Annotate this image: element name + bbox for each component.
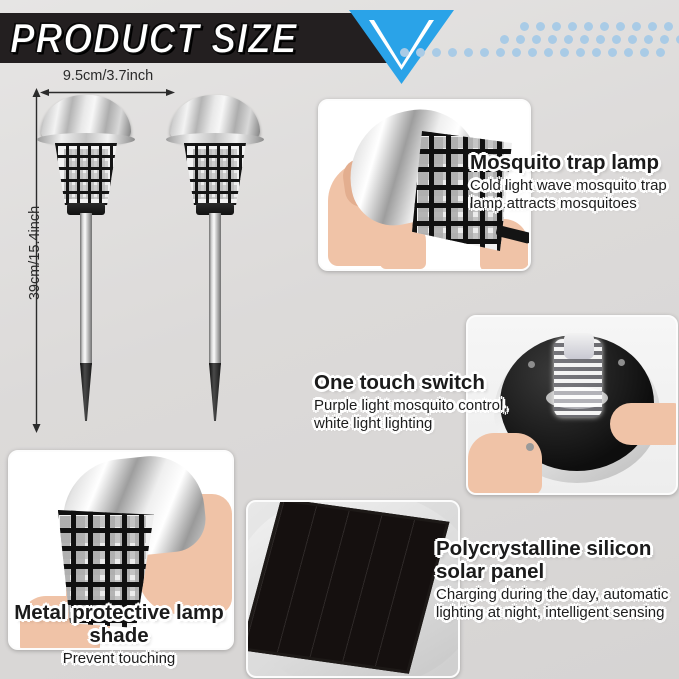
decorative-dot [544, 48, 553, 57]
decorative-dot [616, 22, 625, 31]
decorative-dot [560, 48, 569, 57]
decorative-dot [516, 35, 525, 44]
decorative-dot [592, 48, 601, 57]
page-title: PRODUCT SIZE [10, 14, 360, 63]
feature-subtitle: Purple light mosquito control, white lig… [314, 397, 526, 434]
feature-text-polycrystalline-silicon-solar-panel: Polycrystalline silicon solar panel Char… [436, 538, 679, 623]
decorative-dot [600, 22, 609, 31]
decorative-dot [432, 48, 441, 57]
lamp-pole [80, 213, 92, 365]
decorative-dot [448, 48, 457, 57]
feature-text-mosquito-trap-lamp: Mosquito trap lamp Cold light wave mosqu… [470, 152, 679, 214]
decorative-dot [656, 48, 665, 57]
feature-subtitle: Prevent touching [8, 650, 230, 668]
screw [526, 443, 534, 451]
lamp-cap [41, 95, 131, 141]
decorative-dot [564, 35, 573, 44]
decorative-dot [584, 22, 593, 31]
feature-photo-polycrystalline-silicon-solar-panel [246, 500, 460, 678]
infographic-canvas: PRODUCT SIZE 9.5cm/3.7inch 39cm/15.4inch [0, 0, 679, 679]
decorative-dot [512, 48, 521, 57]
lamp-cage [55, 143, 117, 205]
width-measurement-label: 9.5cm/3.7inch [33, 68, 183, 84]
decorative-dot [628, 35, 637, 44]
lamp-cage [184, 143, 246, 205]
decorative-dot [596, 35, 605, 44]
decorative-dot [576, 48, 585, 57]
decorative-dot [580, 35, 589, 44]
decorative-dot [664, 22, 673, 31]
decorative-dot [400, 48, 409, 57]
decorative-dot [612, 35, 621, 44]
screw [528, 361, 535, 368]
lamp-cap [170, 95, 260, 141]
decorative-dot [648, 22, 657, 31]
feature-text-metal-protective-lamp-shade: Metal protective lamp shade Prevent touc… [8, 602, 230, 668]
lamp-pole [209, 213, 221, 365]
lamp-cage-bars [55, 143, 117, 205]
led-top [564, 333, 594, 359]
lamp-ground-stake [80, 363, 92, 421]
decorative-dot [552, 22, 561, 31]
solar-lamp-illustration-left [28, 95, 144, 395]
feature-title: Polycrystalline silicon solar panel [436, 538, 679, 584]
decorative-dot [528, 48, 537, 57]
decorative-dot [520, 22, 529, 31]
decorative-dot [624, 48, 633, 57]
pressing-finger [610, 403, 678, 445]
decorative-dot [500, 35, 509, 44]
decorative-dot [416, 48, 425, 57]
decorative-dot [464, 48, 473, 57]
photo-solar-panel-closeup [248, 502, 458, 676]
decorative-dot [640, 48, 649, 57]
decorative-dot [568, 22, 577, 31]
feature-subtitle: Cold light wave mosquito trap lamp attra… [470, 177, 679, 214]
decorative-dot [532, 35, 541, 44]
lamp-ground-stake [209, 363, 221, 421]
feature-subtitle: Charging during the day, automatic light… [436, 586, 679, 623]
lamp-cage-bars [184, 143, 246, 205]
solar-lamp-illustration-right [157, 95, 273, 395]
decorative-dot-pattern [400, 22, 679, 62]
decorative-dot [632, 22, 641, 31]
decorative-dot [480, 48, 489, 57]
decorative-dot [660, 35, 669, 44]
feature-title: One touch switch [314, 372, 526, 395]
feature-title: Mosquito trap lamp [470, 152, 679, 175]
feature-title: Metal protective lamp shade [8, 602, 230, 648]
decorative-dot [536, 22, 545, 31]
decorative-dot [608, 48, 617, 57]
decorative-dot [496, 48, 505, 57]
decorative-dot [644, 35, 653, 44]
screw [618, 359, 625, 366]
feature-text-one-touch-switch: One touch switch Purple light mosquito c… [314, 372, 526, 434]
decorative-dot [548, 35, 557, 44]
